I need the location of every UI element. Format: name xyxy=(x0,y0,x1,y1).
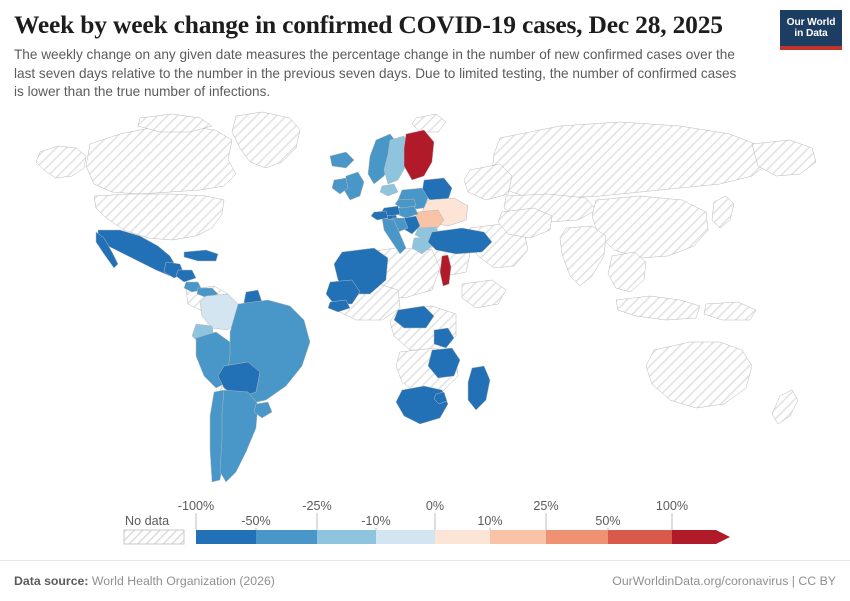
legend-no-data-swatch[interactable] xyxy=(124,530,184,544)
data-source-value: World Health Organization (2026) xyxy=(92,574,275,588)
legend-bin-0-10[interactable] xyxy=(435,530,490,544)
map-region-india[interactable] xyxy=(560,226,606,286)
map-region-greenland[interactable] xyxy=(232,112,300,168)
legend-bin-10-25[interactable] xyxy=(490,530,546,544)
map-legend[interactable]: No data -100% -25% 0% 25% 100% -50% -10%… xyxy=(0,494,850,554)
map-region-canada[interactable] xyxy=(86,126,236,194)
map-region-australia[interactable] xyxy=(646,342,752,408)
legend-no-data-label: No data xyxy=(125,514,169,528)
legend-tick--100: -100% xyxy=(178,499,214,513)
page-title: Week by week change in confirmed COVID-1… xyxy=(14,10,836,40)
map-region-southeast-asia[interactable] xyxy=(608,252,646,292)
map-region-new-guinea[interactable] xyxy=(704,302,756,320)
chart-footer: Data source: World Health Organization (… xyxy=(0,560,850,600)
data-source-label: Data source: xyxy=(14,574,89,588)
legend-bin--10-0[interactable] xyxy=(376,530,435,544)
owid-logo-line2: in Data xyxy=(794,28,827,40)
owid-map-chart: Week by week change in confirmed COVID-1… xyxy=(0,0,850,600)
map-region-south-africa[interactable] xyxy=(396,386,448,424)
legend-tick-25: 25% xyxy=(533,499,558,513)
map-region-new-zealand[interactable] xyxy=(772,390,798,424)
legend-tick--50: -50% xyxy=(241,514,270,528)
legend-tick-0: 0% xyxy=(426,499,444,513)
owid-logo[interactable]: Our World in Data xyxy=(780,10,842,50)
map-region-iceland[interactable] xyxy=(330,152,354,168)
map-region-finland[interactable] xyxy=(404,130,434,180)
map-region-lebanon[interactable] xyxy=(440,255,451,286)
legend-tick-50: 50% xyxy=(595,514,620,528)
world-map-svg[interactable] xyxy=(0,104,850,494)
chart-header: Week by week change in confirmed COVID-1… xyxy=(0,0,850,102)
map-region-svalbard[interactable] xyxy=(412,114,446,132)
map-region-turkey[interactable] xyxy=(428,228,492,254)
owid-logo-line1: Our World xyxy=(787,17,836,29)
legend-bin--25--10[interactable] xyxy=(317,530,376,544)
map-region-eastern-europe[interactable] xyxy=(464,164,512,200)
map-region-china[interactable] xyxy=(592,196,708,258)
map-region-japan[interactable] xyxy=(712,196,734,228)
legend-tick--25: -25% xyxy=(302,499,331,513)
chart-subtitle: The weekly change on any given date meas… xyxy=(14,46,744,102)
legend-bin-25-50[interactable] xyxy=(546,530,608,544)
legend-bin--50--25[interactable] xyxy=(256,530,317,544)
map-region-honduras[interactable] xyxy=(176,270,196,282)
map-region-alaska[interactable] xyxy=(36,146,86,178)
map-region-russia[interactable] xyxy=(492,122,770,198)
legend-tick-10: 10% xyxy=(477,514,502,528)
data-source: Data source: World Health Organization (… xyxy=(14,574,275,588)
world-map[interactable] xyxy=(0,104,850,494)
map-region-russia-far-east[interactable] xyxy=(752,140,816,176)
attribution-link[interactable]: OurWorldinData.org/coronavirus | CC BY xyxy=(612,574,836,588)
map-region-denmark[interactable] xyxy=(380,184,398,196)
legend-color-bins[interactable] xyxy=(196,530,730,544)
legend-bin--100--50[interactable] xyxy=(196,530,256,544)
map-region-switzerland[interactable] xyxy=(371,211,388,220)
map-region-horn-africa[interactable] xyxy=(462,280,506,308)
legend-bin-over-100[interactable] xyxy=(672,530,730,544)
legend-tick-100: 100% xyxy=(656,499,688,513)
legend-svg[interactable]: No data -100% -25% 0% 25% 100% -50% -10%… xyxy=(0,494,850,554)
map-region-indonesia[interactable] xyxy=(616,296,700,320)
map-region-cuba[interactable] xyxy=(184,250,218,261)
legend-bin-50-100[interactable] xyxy=(608,530,672,544)
map-region-argentina[interactable] xyxy=(220,390,258,482)
map-region-madagascar[interactable] xyxy=(468,366,490,410)
legend-tick--10: -10% xyxy=(361,514,390,528)
